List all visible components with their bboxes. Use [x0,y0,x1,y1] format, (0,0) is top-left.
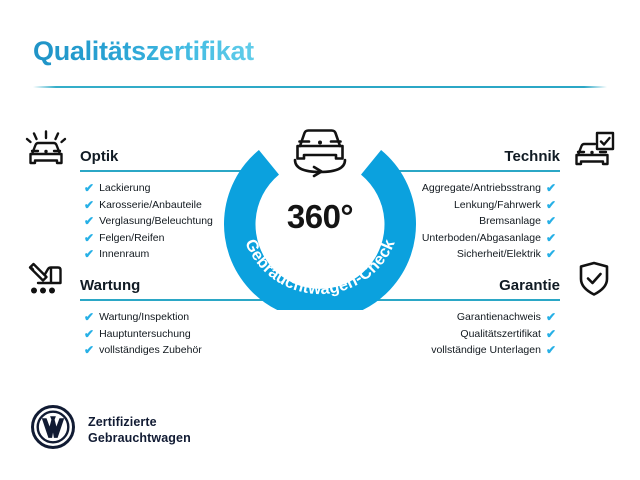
list-item: Garantienachweis✔ [368,309,618,326]
list-item-label: Garantienachweis [457,309,541,326]
list-item: vollständige Unterlagen✔ [368,342,618,359]
check-icon: ✔ [546,344,556,356]
check-icon: ✔ [546,232,556,244]
volkswagen-logo [31,405,75,454]
check-icon: ✔ [84,182,94,194]
brand-footer-line1: Zertifizierte [88,414,191,430]
list-item: ✔Hauptuntersuchung [22,326,272,343]
list-item: ✔Wartung/Inspektion [22,309,272,326]
check-icon: ✔ [84,232,94,244]
rotating-car-icon [280,120,360,182]
section-garantie-title: Garantie [499,277,560,294]
list-item-label: vollständige Unterlagen [431,342,541,359]
check-icon: ✔ [546,199,556,211]
check-icon: ✔ [84,199,94,211]
check-icon: ✔ [84,328,94,340]
check-icon: ✔ [546,182,556,194]
list-item-label: Karosserie/Anbauteile [99,197,202,214]
section-wartung-list: ✔Wartung/Inspektion ✔Hauptuntersuchung ✔… [22,309,272,359]
check-icon: ✔ [546,311,556,323]
list-item-label: Wartung/Inspektion [99,309,189,326]
certificate-page: Qualitätszertifikat [0,0,640,480]
section-wartung-title: Wartung [80,277,140,294]
wrench-car-icon [22,257,70,301]
list-item: ✔vollständiges Zubehör [22,342,272,359]
list-item-label: Lenkung/Fahrwerk [454,197,541,214]
page-title: Qualitätszertifikat [33,36,254,67]
check-icon: ✔ [84,344,94,356]
list-item-label: Verglasung/Beleuchtung [99,213,213,230]
section-technik-title: Technik [504,148,560,165]
section-garantie-list: Garantienachweis✔ Qualitätszertifikat✔ v… [368,309,618,359]
list-item-label: Aggregate/Antriebsstrang [422,180,541,197]
360-check-badge: Gebrauchtwagen-Check 360° [224,118,416,310]
list-item-label: Qualitätszertifikat [460,326,541,343]
list-item-label: Lackierung [99,180,150,197]
check-icon: ✔ [84,215,94,227]
list-item-label: vollständiges Zubehör [99,342,202,359]
list-item: Qualitätszertifikat✔ [368,326,618,343]
car-checkbox-icon [570,128,618,172]
brand-footer-line2: Gebrauchtwagen [88,430,191,446]
brand-footer: Zertifizierte Gebrauchtwagen [31,405,191,454]
shield-check-icon [570,257,618,301]
check-icon: ✔ [84,311,94,323]
car-shine-icon [22,128,70,172]
title-divider [33,86,607,88]
list-item-label: Bremsanlage [479,213,541,230]
section-optik-title: Optik [80,148,118,165]
list-item-label: Unterboden/Abgasanlage [422,230,541,247]
list-item-label: Felgen/Reifen [99,230,164,247]
list-item-label: Hauptuntersuchung [99,326,191,343]
check-icon: ✔ [546,215,556,227]
check-icon: ✔ [546,328,556,340]
brand-footer-text: Zertifizierte Gebrauchtwagen [88,414,191,446]
